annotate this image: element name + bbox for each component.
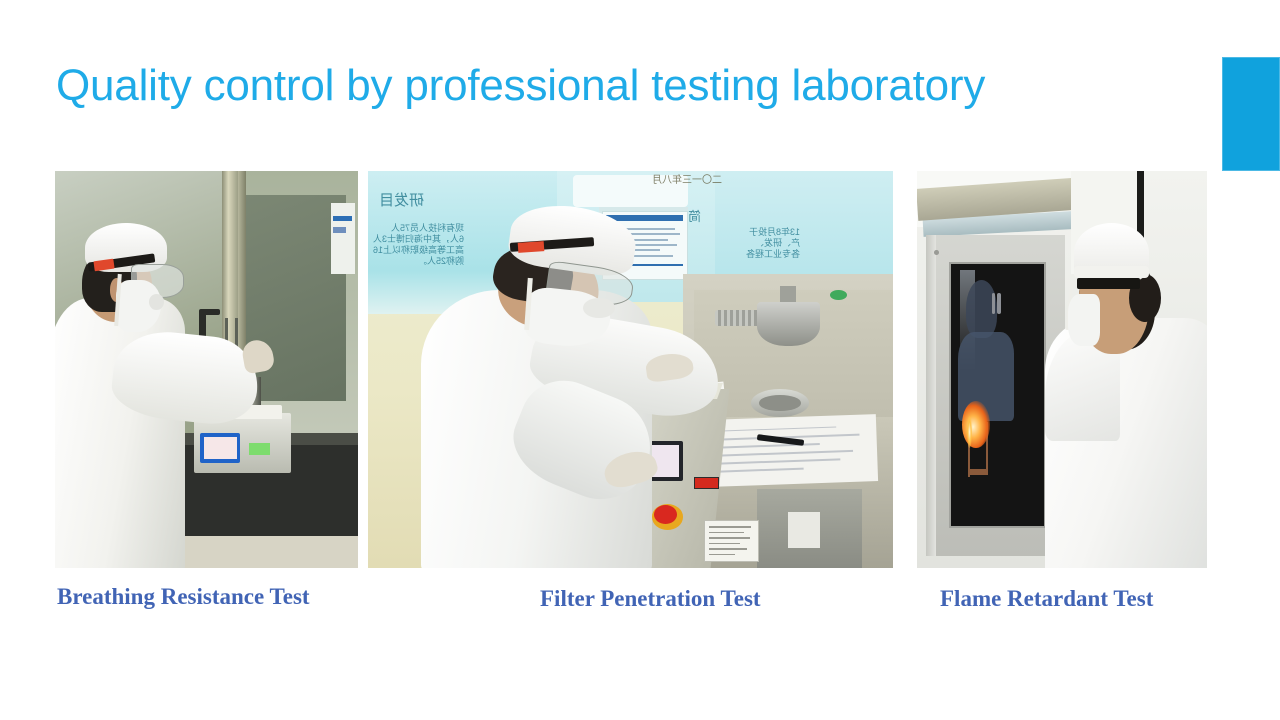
board-body-text: 现有科技人员75人6人，其中海归博士3人高工等高级职称以上16购称25人。 <box>373 223 464 267</box>
tester-lever-arm <box>199 309 220 315</box>
caption-breathing-resistance: Breathing Resistance Test <box>57 583 310 611</box>
record-sheet <box>708 414 878 487</box>
tester-display <box>200 433 239 463</box>
board-right-body: 13年8月投于产、研发、各专业工程各 <box>746 227 800 260</box>
photo-3-scene <box>917 171 1207 568</box>
accent-block <box>1222 57 1280 171</box>
slide-canvas: Quality control by professional testing … <box>0 0 1280 720</box>
cap-brim <box>1074 266 1149 278</box>
wall-placard <box>331 203 355 274</box>
face-mask-valve <box>149 294 164 310</box>
emergency-stop-button[interactable] <box>652 504 684 530</box>
chamber-tube-right <box>997 293 1001 314</box>
caption-filter-penetration: Filter Penetration Test <box>540 585 761 613</box>
chamber-left-edge <box>926 235 936 557</box>
red-power-switch[interactable] <box>694 477 720 489</box>
cap-logo <box>517 241 544 252</box>
cabinet-glass-door <box>757 489 862 568</box>
photo-1-scene <box>55 171 358 568</box>
photo-2-scene: 研发目 现有科技人员75人6人，其中海归博士3人高工等高级职称以上16购称25人… <box>368 171 893 568</box>
sample-holder-ring <box>751 389 809 417</box>
photo-breathing-resistance <box>55 171 358 568</box>
test-flame-core <box>967 416 973 447</box>
board-date-text: 二〇一三年八月 <box>652 175 722 186</box>
stainless-hood <box>757 302 820 346</box>
burner-pipe-horizontal <box>968 469 988 476</box>
page-title: Quality control by professional testing … <box>56 56 1186 118</box>
caption-flame-retardant: Flame Retardant Test <box>940 585 1153 613</box>
cap-headband <box>1077 278 1141 288</box>
board-right-heading: 简 <box>688 211 701 222</box>
photo-filter-penetration: 研发目 现有科技人员75人6人，其中海归博士3人高工等高级职称以上16购称25人… <box>368 171 893 568</box>
photo-flame-retardant <box>917 171 1207 568</box>
machine-spec-label <box>704 520 759 562</box>
chamber-viewing-window <box>949 262 1046 528</box>
chamber-tube-left <box>992 293 996 314</box>
tester-indicator-strip <box>249 443 270 455</box>
face-mask <box>1068 294 1100 346</box>
board-heading-text: 研发目 <box>379 195 424 206</box>
face-mask-valve <box>583 298 615 318</box>
